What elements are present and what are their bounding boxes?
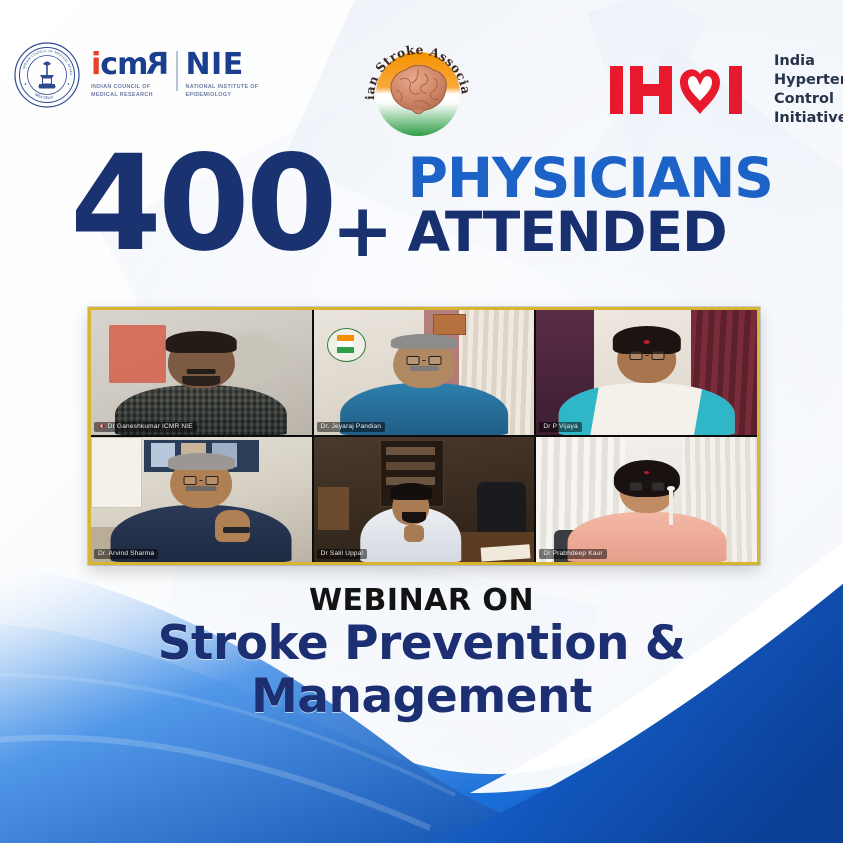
attendee-count: 400 [70, 146, 334, 262]
webinar-eyebrow: WEBINAR ON [0, 583, 843, 618]
participant-name-label: Dr P Vijaya [539, 422, 581, 433]
ihci-wordmark [608, 62, 760, 118]
participant-name-label: Dr. Jeyaraj Pandian [317, 422, 386, 433]
webinar-title-line2: Management [0, 671, 843, 724]
ihci-subtitle: India Hypertension Control Initiative [774, 52, 843, 129]
participant-name-label: Dr Prabhdeep Kaur [539, 549, 606, 560]
svg-text:NEW DELHI: NEW DELHI [34, 93, 53, 101]
icmr-nie-logo: INDIAN COUNCIL OF MEDICAL RESEARCH NEW D… [12, 40, 259, 110]
mic-muted-icon: 🔇 [98, 424, 106, 430]
video-tile[interactable]: 🔇Dr Ganeshkumar ICMR NIE [91, 310, 312, 435]
logo-row: INDIAN COUNCIL OF MEDICAL RESEARCH NEW D… [0, 22, 843, 142]
participant-name-label: 🔇Dr Ganeshkumar ICMR NIE [94, 422, 197, 433]
headline-line-physicians: PHYSICIANS [408, 152, 773, 206]
video-tile[interactable]: Dr. Arvind Sharma [91, 437, 312, 562]
video-tiles: 🔇Dr Ganeshkumar ICMR NIE [91, 310, 757, 562]
headline-line-attended: ATTENDED [408, 206, 773, 260]
headline-block: 400 + PHYSICIANS ATTENDED [0, 146, 843, 268]
video-conference-grid: 🔇Dr Ganeshkumar ICMR NIE [88, 307, 760, 565]
logo-divider [176, 51, 178, 91]
poster-canvas: INDIAN COUNCIL OF MEDICAL RESEARCH NEW D… [0, 0, 843, 843]
webinar-title-line1: Stroke Prevention & [0, 618, 843, 671]
video-tile-active-speaker[interactable]: Dr Prabhdeep Kaur [536, 437, 757, 562]
webinar-title: Stroke Prevention & Management [0, 618, 843, 723]
video-tile[interactable]: Dr Salil Uppal [314, 437, 535, 562]
icmr-subtitle: INDIAN COUNCIL OF MEDICAL RESEARCH [91, 84, 169, 100]
plus-sign: + [332, 194, 394, 268]
icmr-wordmark: icmR [91, 50, 169, 80]
participant-name-label: Dr Salil Uppal [317, 549, 368, 560]
nie-wordmark: NIE [185, 50, 258, 80]
ihci-logo: India Hypertension Control Initiative [608, 52, 843, 129]
indian-stroke-association-logo: Indian Stroke Association [352, 24, 484, 156]
icmr-emblem-icon: INDIAN COUNCIL OF MEDICAL RESEARCH NEW D… [12, 40, 82, 110]
video-tile[interactable]: Dr. Jeyaraj Pandian [314, 310, 535, 435]
video-tile[interactable]: Dr P Vijaya [536, 310, 757, 435]
icmr-wordmark-group: icmR INDIAN COUNCIL OF MEDICAL RESEARCH … [91, 50, 259, 100]
nie-subtitle: NATIONAL INSTITUTE OF EPIDEMIOLOGY [185, 84, 258, 100]
participant-name-label: Dr. Arvind Sharma [94, 549, 158, 560]
svg-text:INDIAN COUNCIL OF MEDICAL RESE: INDIAN COUNCIL OF MEDICAL RESEARCH [12, 40, 73, 76]
